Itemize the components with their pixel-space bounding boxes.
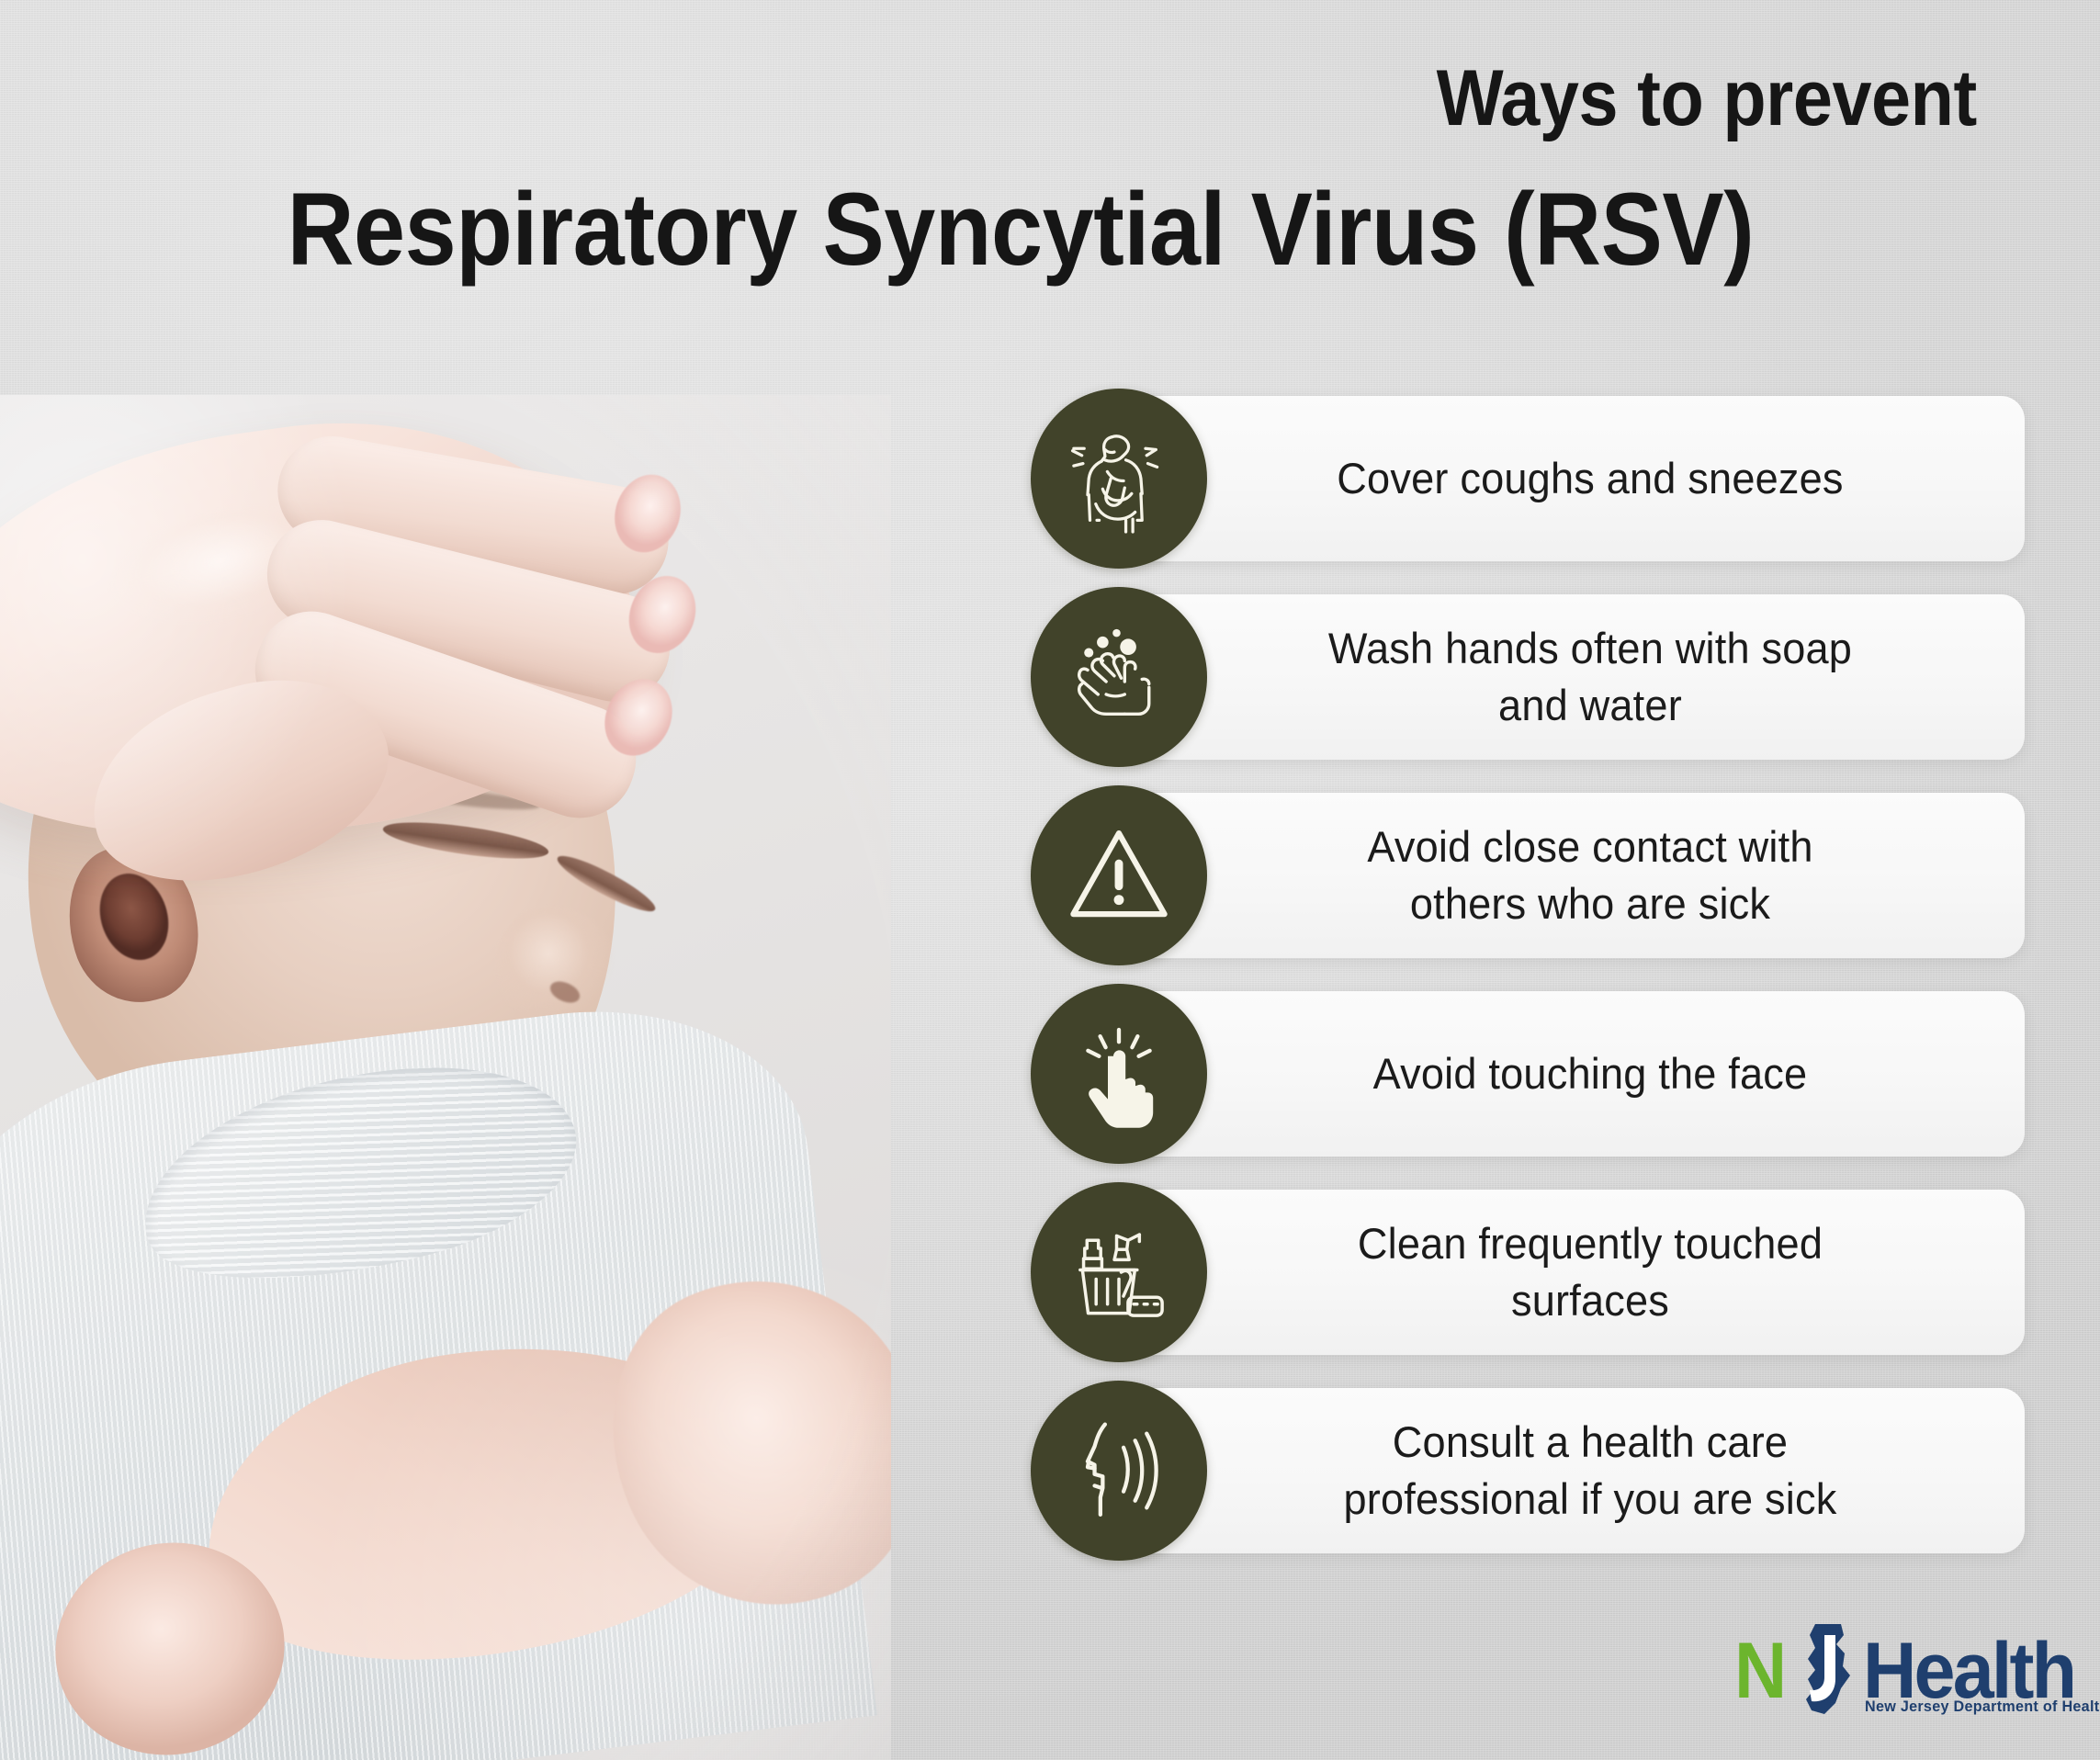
list-item[interactable]: Cover coughs and sneezes: [998, 389, 2025, 569]
pointing-finger-icon: [1031, 984, 1207, 1164]
speaking-head-icon: [1031, 1381, 1207, 1561]
tip-label: Cover coughs and sneezes: [1203, 389, 1978, 569]
cleaning-supplies-icon: [1031, 1182, 1207, 1362]
heading-block: Ways to prevent Respiratory Syncytial Vi…: [0, 0, 2100, 281]
list-item[interactable]: Clean frequently touched surfaces: [998, 1182, 2025, 1362]
warning-triangle-icon: [1031, 785, 1207, 965]
tip-label: Avoid close contact with others who are …: [1203, 785, 1978, 965]
tip-label: Avoid touching the face: [1203, 984, 1978, 1164]
nj-health-logo[interactable]: N Health New Jersey Department of Health: [1734, 1620, 2038, 1727]
list-item[interactable]: Wash hands often with soap and water: [998, 587, 2025, 767]
tip-label: Wash hands often with soap and water: [1203, 587, 1978, 767]
logo-letter-n: N: [1734, 1626, 1783, 1717]
kicker-text: Ways to prevent: [204, 59, 2041, 138]
tip-label: Consult a health care professional if yo…: [1203, 1381, 1978, 1561]
page-title: Respiratory Syncytial Virus (RSV): [102, 178, 1939, 281]
list-item[interactable]: Avoid close contact with others who are …: [998, 785, 2025, 965]
tip-label: Clean frequently touched surfaces: [1203, 1182, 1978, 1362]
new-jersey-state-outline-icon: [1788, 1622, 1865, 1718]
list-item[interactable]: Avoid touching the face: [998, 984, 2025, 1164]
logo-subtitle: New Jersey Department of Health: [1865, 1698, 2100, 1716]
washing-hands-icon: [1031, 587, 1207, 767]
person-sneezing-icon: [1031, 389, 1207, 569]
prevention-tips-list: Cover coughs and sneezes: [998, 389, 2025, 1579]
infographic-canvas: Ways to prevent Respiratory Syncytial Vi…: [0, 0, 2100, 1760]
hero-photo: [0, 395, 891, 1760]
list-item[interactable]: Consult a health care professional if yo…: [998, 1381, 2025, 1561]
